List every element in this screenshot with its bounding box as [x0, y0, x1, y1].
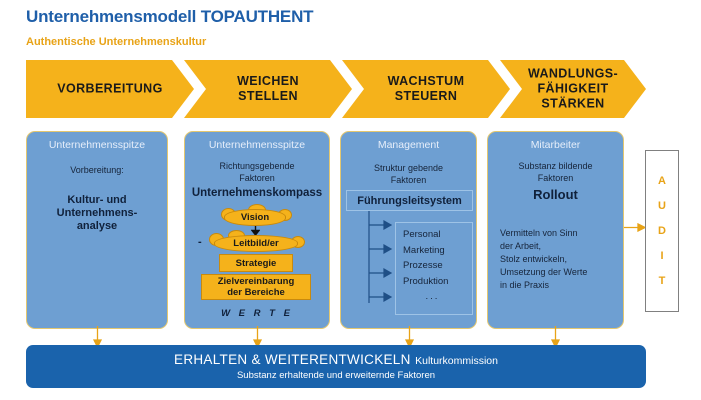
bottom-headline-main: ERHALTEN & WEITERENTWICKELN	[174, 352, 411, 367]
banner-step-wachstum-steuern[interactable]: WACHSTUM STEUERN	[342, 60, 510, 118]
bottom-banner[interactable]: ERHALTEN & WEITERENTWICKELN Kulturkommis…	[26, 345, 646, 388]
fuehrungsleitsystem-label: Führungsleitsystem	[357, 195, 462, 207]
panel-management[interactable]: Management Struktur gebende Faktoren Füh…	[340, 131, 477, 329]
compass-node-leitbild[interactable]: Leitbild/er	[214, 235, 298, 252]
list-item[interactable]: Produktion	[403, 274, 472, 290]
banner-step-label-3: WACHSTUM STEUERN	[342, 74, 510, 104]
banner-step-label-4: WANDLUNGS- FÄHIGKEIT STÄRKEN	[500, 67, 646, 112]
compass-vision-label: Vision	[241, 212, 269, 223]
panel-2-title: Unternehmensspitze	[185, 139, 329, 151]
bottom-banner-headline: ERHALTEN & WEITERENTWICKELN Kulturkommis…	[26, 351, 646, 369]
panel-4-body: Vermitteln von Sinn der Arbeit, Stolz en…	[500, 227, 615, 292]
page-subtitle: Authentische Unternehmenskultur	[26, 36, 206, 48]
panel-1-headline: Kultur- und Unternehmens- analyse	[27, 194, 167, 233]
page-title: Unternehmensmodell TOPAUTHENT	[26, 7, 313, 27]
panel-4-headline: Rollout	[488, 188, 623, 201]
list-item[interactable]: Personal	[403, 227, 472, 243]
panel-mitarbeiter[interactable]: Mitarbeiter Substanz bildende Faktoren R…	[487, 131, 624, 329]
werte-label: W E R T E	[185, 308, 329, 319]
panel-4-subtitle: Substanz bildende Faktoren	[488, 160, 623, 184]
panel-1-subtitle: Vorbereitung:	[27, 164, 167, 176]
management-connector-arrows	[367, 211, 397, 315]
panel-1-title: Unternehmensspitze	[27, 139, 167, 151]
banner-step-weichen-stellen[interactable]: WEICHEN STELLEN	[184, 60, 352, 118]
compass-node-vision[interactable]: Vision	[224, 209, 286, 226]
audit-letter: D	[658, 219, 666, 244]
arrow-down-vision-to-leitbild	[251, 226, 260, 235]
compass-strategie-label: Strategie	[236, 258, 277, 269]
arrow-right-to-audit-icon	[624, 223, 646, 232]
compass-minus-marker: -	[198, 236, 202, 248]
process-arrow-banner: VORBEREITUNG WEICHEN STELLEN WACHSTUM ST…	[26, 60, 646, 118]
panel-3-title: Management	[341, 139, 476, 151]
panel-2-headline: Unternehmenskompass	[185, 187, 329, 200]
panel-3-subtitle: Struktur gebende Faktoren	[341, 162, 476, 186]
panel-2-subtitle: Richtungsgebende Faktoren	[185, 160, 329, 184]
list-item[interactable]: Marketing	[403, 243, 472, 259]
audit-box[interactable]: A U D I T	[645, 150, 679, 312]
unternehmenskompass-diagram: Vision Leitbild/er - Strategie Zielverei…	[193, 204, 323, 302]
audit-letter: U	[658, 194, 666, 219]
bottom-headline-suffix: Kulturkommission	[415, 355, 498, 367]
compass-node-strategie[interactable]: Strategie	[219, 254, 293, 272]
panel-4-title: Mitarbeiter	[488, 139, 623, 151]
audit-letter: A	[658, 169, 666, 194]
compass-node-zielvereinbarung[interactable]: Zielvereinbarung der Bereiche	[201, 274, 311, 300]
slide-canvas: Unternehmensmodell TOPAUTHENT Authentisc…	[0, 0, 701, 400]
banner-step-vorbereitung[interactable]: VORBEREITUNG	[26, 60, 194, 118]
panel-weichen-stellen[interactable]: Unternehmensspitze Richtungsgebende Fakt…	[184, 131, 330, 329]
banner-step-wandlungsfaehigkeit-staerken[interactable]: WANDLUNGS- FÄHIGKEIT STÄRKEN	[500, 60, 646, 118]
banner-step-label-2: WEICHEN STELLEN	[184, 74, 352, 104]
compass-zielvereinbarung-label: Zielvereinbarung der Bereiche	[218, 276, 295, 298]
banner-step-label-1: VORBEREITUNG	[26, 82, 194, 97]
bottom-banner-subline: Substanz erhaltende und erweiternde Fakt…	[26, 370, 646, 381]
management-function-list: Personal Marketing Prozesse Produktion .…	[395, 222, 473, 315]
compass-leitbild-label: Leitbild/er	[233, 238, 278, 249]
panel-vorbereitung[interactable]: Unternehmensspitze Vorbereitung: Kultur-…	[26, 131, 168, 329]
audit-letter: T	[659, 269, 666, 294]
fuehrungsleitsystem-box[interactable]: Führungsleitsystem	[346, 190, 473, 211]
list-item[interactable]: Prozesse	[403, 258, 472, 274]
list-item-ellipsis: ...	[403, 289, 472, 305]
audit-letter: I	[660, 244, 663, 269]
